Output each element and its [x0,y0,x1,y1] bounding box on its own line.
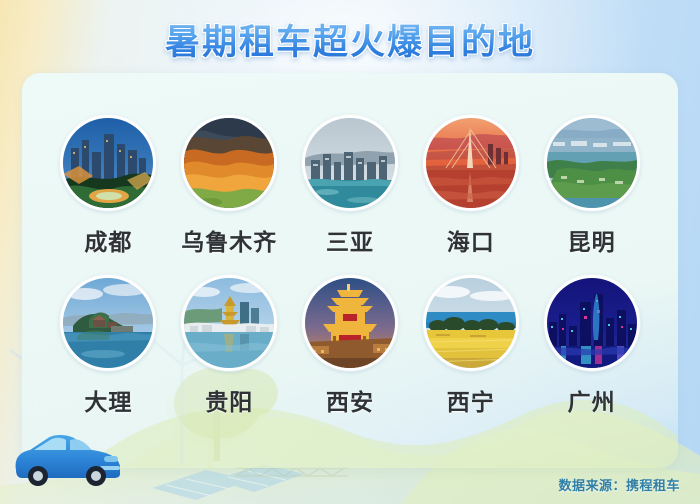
destination-photo-dali[interactable] [60,275,156,371]
destination-name: 贵阳 [205,383,253,417]
destination-item[interactable]: 三亚 [298,115,402,257]
destination-name: 西宁 [447,383,495,417]
destination-photo-sanya[interactable] [302,115,398,211]
car-icon [8,428,128,490]
destination-photo-urumqi[interactable] [181,115,277,211]
data-source-label: 数据来源：携程租车 [558,475,680,494]
infographic-canvas: 暑期租车超火爆目的地 [0,0,700,504]
destination-photo-guiyang[interactable] [181,275,277,371]
destination-item[interactable]: 贵阳 [177,275,281,417]
destination-name: 成都 [84,223,132,257]
solar-panel-icon [152,464,304,500]
destination-photo-xining[interactable] [423,275,519,371]
bridge-icon [236,468,348,476]
destination-name: 西安 [326,383,374,417]
destination-name: 海口 [447,223,495,257]
destination-name: 三亚 [326,223,374,257]
destination-item[interactable]: 西安 [298,275,402,417]
destination-photo-kunming[interactable] [544,115,640,211]
destination-photo-chengdu[interactable] [60,115,156,211]
destination-item[interactable]: 乌鲁木齐 [177,115,281,257]
destination-item[interactable]: 大理 [56,275,160,417]
destination-item[interactable]: 广州 [540,275,644,417]
title-container: 暑期租车超火爆目的地 [0,14,700,65]
destination-name: 乌鲁木齐 [181,223,277,257]
destination-name: 昆明 [568,223,616,257]
destinations-card: 成都 乌鲁木齐 [22,73,678,468]
destination-item[interactable]: 海口 [419,115,523,257]
destination-photo-xian[interactable] [302,275,398,371]
destination-item[interactable]: 昆明 [540,115,644,257]
destination-row-1: 成都 乌鲁木齐 [22,115,678,257]
destination-photo-guangzhou[interactable] [544,275,640,371]
destination-item[interactable]: 成都 [56,115,160,257]
destination-item[interactable]: 西宁 [419,275,523,417]
destination-name: 大理 [84,383,132,417]
destination-photo-haikou[interactable] [423,115,519,211]
destination-row-2: 大理 [22,275,678,417]
page-title: 暑期租车超火爆目的地 [165,14,535,65]
destination-name: 广州 [568,383,616,417]
